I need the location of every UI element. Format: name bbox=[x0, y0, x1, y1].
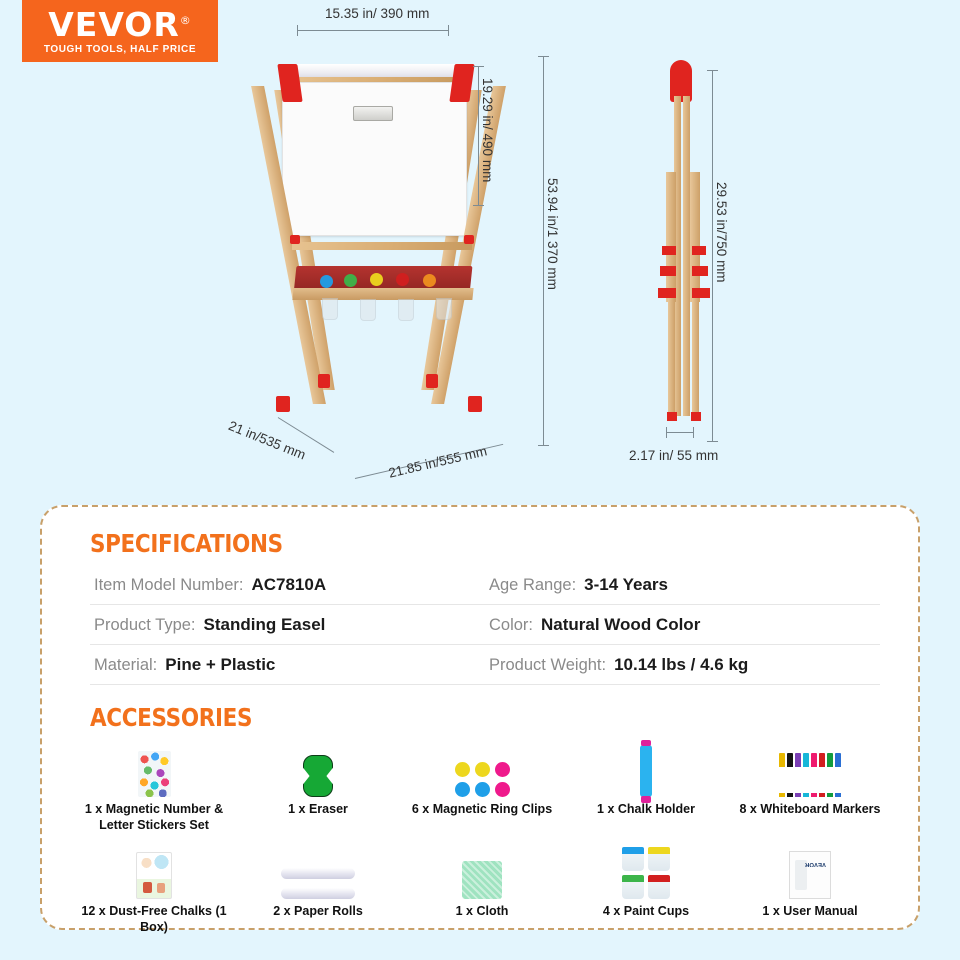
dim-folded-width-line bbox=[666, 432, 694, 433]
accessory-magnetic-stickers: 1 x Magnetic Number &Letter Stickers Set bbox=[72, 735, 236, 833]
tray-item-blue bbox=[320, 275, 333, 288]
spec-value: 10.14 lbs / 4.6 kg bbox=[614, 655, 748, 675]
user-manual-icon: VEVOR bbox=[789, 837, 831, 899]
folded-leg-left bbox=[668, 298, 675, 416]
accessory-label: 6 x Magnetic Ring Clips bbox=[412, 802, 552, 818]
info-panel: SPECIFICATIONS Item Model Number: AC7810… bbox=[40, 505, 920, 930]
whiteboard-markers-icon bbox=[779, 735, 841, 797]
accessory-paper-rolls: 2 x Paper Rolls bbox=[236, 837, 400, 935]
marker-1 bbox=[779, 753, 785, 797]
foot-cap-front-right bbox=[468, 396, 482, 412]
dim-board-width-tick-right bbox=[448, 25, 449, 36]
marker-6 bbox=[819, 753, 825, 797]
accessory-label: 1 x Cloth bbox=[456, 904, 509, 920]
dim-folded-height-tick-top bbox=[707, 70, 718, 71]
spec-row-material: Material: Pine + Plastic bbox=[90, 645, 485, 685]
accessory-label: 1 x User Manual bbox=[762, 904, 857, 920]
ring-clip-3 bbox=[495, 762, 510, 777]
folded-leg-right bbox=[692, 298, 699, 416]
dim-board-height-tick-top bbox=[473, 66, 484, 67]
tray-item-yellow bbox=[370, 273, 383, 286]
paint-cup-3 bbox=[622, 875, 644, 899]
dim-folded-width-tick-right bbox=[693, 427, 694, 438]
paint-cup-1 bbox=[622, 847, 644, 871]
spec-row-age-range: Age Range: 3-14 Years bbox=[485, 565, 880, 605]
spec-row-product-weight: Product Weight: 10.14 lbs / 4.6 kg bbox=[485, 645, 880, 685]
spec-key: Product Weight: bbox=[489, 656, 606, 675]
spec-row-product-type: Product Type: Standing Easel bbox=[90, 605, 485, 645]
adjust-knob-left bbox=[290, 235, 300, 244]
dim-board-height-line bbox=[478, 66, 479, 206]
accessory-label: 1 x Chalk Holder bbox=[597, 802, 695, 818]
accessory-label: 2 x Paper Rolls bbox=[273, 904, 363, 920]
magnetic-ring-clips-icon bbox=[455, 735, 510, 797]
ring-clip-2 bbox=[475, 762, 490, 777]
tray-item-orange bbox=[423, 274, 436, 287]
folded-knob-3 bbox=[660, 266, 676, 276]
folded-bar-left bbox=[666, 172, 676, 302]
accessory-magnetic-ring-clips: 6 x Magnetic Ring Clips bbox=[400, 735, 564, 833]
accessories-grid: 1 x Magnetic Number &Letter Stickers Set… bbox=[72, 735, 892, 936]
ring-clip-5 bbox=[475, 782, 490, 797]
paint-cup-4 bbox=[648, 875, 670, 899]
specifications-title: SPECIFICATIONS bbox=[90, 529, 283, 558]
accessories-title: ACCESSORIES bbox=[90, 703, 252, 732]
paper-clip bbox=[353, 106, 393, 121]
spec-value: Standing Easel bbox=[204, 615, 326, 635]
foot-cap-rear-left bbox=[318, 374, 330, 388]
dim-board-height-tick-bottom bbox=[473, 205, 484, 206]
paint-cup-2 bbox=[648, 847, 670, 871]
folded-knob-1 bbox=[662, 246, 676, 255]
marker-5 bbox=[811, 753, 817, 797]
marker-4 bbox=[803, 753, 809, 797]
hanging-cup-1 bbox=[322, 298, 338, 320]
folded-bar-center-right bbox=[683, 96, 690, 416]
folded-foot-left bbox=[667, 412, 677, 421]
dim-board-width-tick-left bbox=[297, 25, 298, 36]
product-diagram: 15.35 in/ 390 mm 19.29 in/ 490 mm 53.94 … bbox=[0, 0, 960, 500]
tray-item-red bbox=[396, 273, 409, 286]
marker-7 bbox=[827, 753, 833, 797]
chalk-holder-icon bbox=[640, 735, 652, 797]
accessory-cloth: 1 x Cloth bbox=[400, 837, 564, 935]
accessory-label: 8 x Whiteboard Markers bbox=[739, 802, 880, 818]
dim-folded-width-tick-left bbox=[666, 427, 667, 438]
dim-total-height-label: 53.94 in/1 370 mm bbox=[545, 178, 560, 290]
dim-folded-height-tick-bottom bbox=[707, 441, 718, 442]
standing-easel-illustration bbox=[240, 30, 550, 470]
chalk-box-icon bbox=[136, 837, 172, 899]
ring-clip-6 bbox=[495, 782, 510, 797]
accessory-label: 4 x Paint Cups bbox=[603, 904, 689, 920]
accessory-eraser: 1 x Eraser bbox=[236, 735, 400, 833]
folded-knob-6 bbox=[692, 288, 710, 298]
accessory-label: 1 x Magnetic Number &Letter Stickers Set bbox=[85, 802, 223, 833]
manual-brand-label: VEVOR bbox=[805, 861, 826, 867]
dim-folded-height-line bbox=[712, 70, 713, 442]
paper-rolls-icon bbox=[281, 837, 355, 899]
accessory-paint-cups: 4 x Paint Cups bbox=[564, 837, 728, 935]
spec-row-item-model-number: Item Model Number: AC7810A bbox=[90, 565, 485, 605]
spec-value: AC7810A bbox=[251, 575, 326, 595]
spec-key: Color: bbox=[489, 616, 533, 635]
eraser-icon bbox=[303, 735, 333, 797]
cloth-icon bbox=[462, 837, 502, 899]
foot-cap-rear-right bbox=[426, 374, 438, 388]
dim-board-width-label: 15.35 in/ 390 mm bbox=[325, 6, 429, 21]
specifications-table: Item Model Number: AC7810A Age Range: 3-… bbox=[90, 565, 880, 685]
spec-key: Age Range: bbox=[489, 576, 576, 595]
ring-clip-1 bbox=[455, 762, 470, 777]
dim-folded-width-label: 2.17 in/ 55 mm bbox=[629, 448, 718, 463]
folded-bar-right bbox=[690, 172, 700, 302]
tray-item-green bbox=[344, 274, 357, 287]
accessory-chalk-holder: 1 x Chalk Holder bbox=[564, 735, 728, 833]
hanging-cup-4 bbox=[436, 298, 452, 320]
accessory-dust-free-chalks: 12 x Dust-Free Chalks (1 Box) bbox=[72, 837, 236, 935]
spec-row-color: Color: Natural Wood Color bbox=[485, 605, 880, 645]
dim-board-height-label: 19.29 in/ 490 mm bbox=[480, 78, 495, 182]
accessory-user-manual: VEVOR 1 x User Manual bbox=[728, 837, 892, 935]
dim-board-width-line bbox=[297, 30, 449, 31]
spec-key: Material: bbox=[94, 656, 157, 675]
folded-foot-right bbox=[691, 412, 701, 421]
accessory-whiteboard-markers: 8 x Whiteboard Markers bbox=[728, 735, 892, 833]
spec-key: Item Model Number: bbox=[94, 576, 243, 595]
folded-knob-2 bbox=[692, 246, 706, 255]
marker-8 bbox=[835, 753, 841, 797]
folded-knob-4 bbox=[692, 266, 708, 276]
dim-folded-height-label: 29.53 in/750 mm bbox=[714, 182, 729, 283]
folded-knob-5 bbox=[658, 288, 676, 298]
spec-value: Natural Wood Color bbox=[541, 615, 700, 635]
marker-3 bbox=[795, 753, 801, 797]
spec-value: 3-14 Years bbox=[584, 575, 668, 595]
dim-total-height-tick-bottom bbox=[538, 445, 549, 446]
hanging-cup-2 bbox=[360, 299, 376, 321]
accessory-label: 1 x Eraser bbox=[288, 802, 348, 818]
paint-cups-icon bbox=[622, 837, 670, 899]
hanging-cup-3 bbox=[398, 299, 414, 321]
sticker-sheet-icon bbox=[138, 735, 171, 797]
folded-easel-illustration bbox=[648, 60, 718, 460]
easel-cross-brace bbox=[292, 242, 472, 250]
ring-clip-4 bbox=[455, 782, 470, 797]
accessory-label: 12 x Dust-Free Chalks (1 Box) bbox=[72, 904, 236, 935]
adjust-knob-right bbox=[464, 235, 474, 244]
marker-2 bbox=[787, 753, 793, 797]
dim-total-height-line bbox=[543, 56, 544, 446]
spec-key: Product Type: bbox=[94, 616, 196, 635]
spec-value: Pine + Plastic bbox=[165, 655, 275, 675]
foot-cap-front-left bbox=[276, 396, 290, 412]
dim-total-height-tick-top bbox=[538, 56, 549, 57]
